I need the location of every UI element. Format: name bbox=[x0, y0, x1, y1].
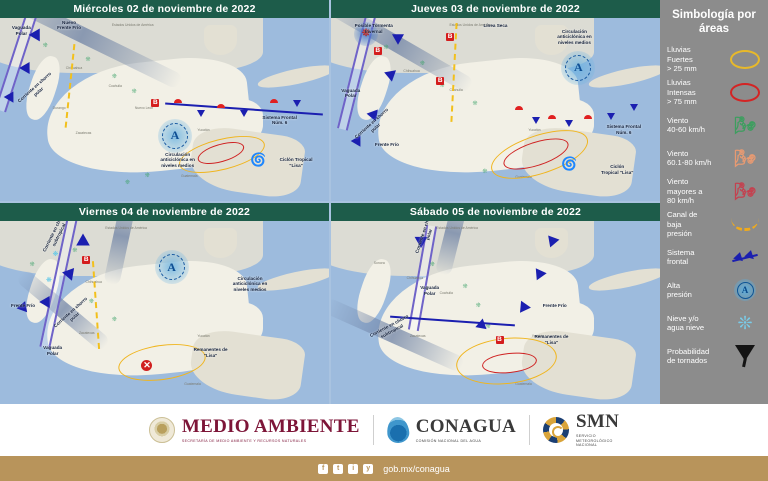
map-wednesday[interactable]: Estados Unidos de América Chihuahua Coah… bbox=[0, 18, 329, 201]
forecast-panel-saturday[interactable]: Sábado 05 de noviembre de 2022 Estados U… bbox=[331, 203, 660, 404]
low-pressure-marker: B bbox=[82, 256, 90, 264]
website-url[interactable]: gob.mx/conagua bbox=[383, 464, 450, 474]
warm-front-bump bbox=[217, 104, 225, 108]
legend-panel: Simbología por áreas Lluvias Fuertes > 2… bbox=[660, 0, 768, 404]
tornado-icon bbox=[729, 343, 761, 369]
legend-item-wind-40-60[interactable]: Viento 40-60 km/h 🌬 bbox=[660, 109, 768, 142]
high-pressure-symbol: A bbox=[155, 250, 189, 284]
wind-orange-icon: 🌬 bbox=[729, 145, 761, 171]
rain-light-ellipse-icon bbox=[729, 46, 761, 72]
low-pressure-marker: B bbox=[374, 47, 382, 55]
map-label: Frente Frío bbox=[528, 303, 581, 309]
map-label: Sistema Frontal Núm. 6 bbox=[588, 124, 660, 135]
map-label: Vaguada Polar bbox=[331, 88, 370, 99]
instagram-icon[interactable]: i bbox=[348, 464, 358, 474]
map-saturday[interactable]: Estados Unidos de América Sonora Chihuah… bbox=[331, 221, 660, 404]
legend-label: Canal de baja presión bbox=[667, 210, 725, 238]
legend-label: Probabilidad de tornados bbox=[667, 347, 725, 366]
brand-smn: SMN SERVICIO METEOROLÓGICO NACIONAL bbox=[530, 412, 632, 448]
cold-front-triangle bbox=[197, 110, 205, 117]
brand-name: MEDIO AMBIENTE bbox=[182, 417, 360, 436]
panel-title-friday: Viernes 04 de noviembre de 2022 bbox=[0, 203, 329, 221]
brand-subtitle: COMISIÓN NACIONAL DEL AGUA bbox=[416, 439, 516, 444]
map-label: Frente Frío bbox=[0, 303, 49, 309]
snow-icon: ❊ bbox=[729, 310, 761, 336]
warm-front-bump bbox=[270, 99, 278, 103]
brand-subtitle: SERVICIO METEOROLÓGICO NACIONAL bbox=[576, 434, 619, 448]
cold-front-triangle bbox=[532, 117, 540, 124]
map-label: Circulación anticiclónica en niveles med… bbox=[141, 152, 213, 169]
mexico-eagle-icon bbox=[149, 417, 175, 443]
warm-front-bump bbox=[584, 115, 592, 119]
legend-title: Simbología por áreas bbox=[660, 0, 768, 43]
high-pressure-ring bbox=[565, 55, 591, 81]
legend-item-low-pressure-channel[interactable]: Canal de baja presión bbox=[660, 208, 768, 241]
map-label: Vaguada Polar bbox=[407, 285, 453, 296]
legend-label: Sistema frontal bbox=[667, 248, 725, 267]
legend-item-high-pressure[interactable]: Alta presión A bbox=[660, 274, 768, 307]
cold-front-triangle bbox=[630, 104, 638, 111]
low-pressure-channel-icon bbox=[729, 211, 761, 237]
tropical-cyclone-symbol: 🌀 bbox=[561, 157, 577, 170]
twitter-icon[interactable]: t bbox=[333, 464, 343, 474]
high-pressure-icon: A bbox=[729, 277, 761, 303]
map-label: Nuevo Frente Frío bbox=[46, 20, 92, 31]
forecast-panel-grid: Miércoles 02 de noviembre de 2022 Estado… bbox=[0, 0, 660, 404]
wind-red-icon: 🌬 bbox=[729, 178, 761, 204]
brand-subtitle: SECRETARÍA DE MEDIO AMBIENTE Y RECURSOS … bbox=[182, 439, 360, 444]
map-label: Remanentes de "Lisa" bbox=[515, 334, 587, 345]
panel-title-thursday: Jueves 03 de noviembre de 2022 bbox=[331, 0, 660, 18]
brand-name: CONAGUA bbox=[416, 417, 516, 436]
legend-item-wind-80plus[interactable]: Viento mayores a 80 km/h 🌬 bbox=[660, 175, 768, 208]
panel-title-saturday: Sábado 05 de noviembre de 2022 bbox=[331, 203, 660, 221]
map-label: Vaguada Polar bbox=[3, 25, 39, 36]
cold-front-triangle bbox=[565, 120, 573, 127]
legend-item-rain-heavy[interactable]: Lluvias Intensas > 75 mm bbox=[660, 76, 768, 109]
youtube-icon[interactable]: y bbox=[363, 464, 373, 474]
legend-label: Alta presión bbox=[667, 281, 725, 300]
social-bar: f t i y gob.mx/conagua bbox=[0, 456, 768, 481]
conagua-drop-icon bbox=[385, 416, 410, 444]
legend-label: Lluvias Fuertes > 25 mm bbox=[667, 45, 725, 73]
smn-spiral-icon bbox=[543, 417, 569, 443]
warm-front-bump bbox=[548, 115, 556, 119]
cold-front-triangle bbox=[76, 233, 90, 245]
map-label: Remanentes de "Lisa" bbox=[174, 347, 246, 358]
brand-medio-ambiente: MEDIO AMBIENTE SECRETARÍA DE MEDIO AMBIE… bbox=[136, 417, 373, 444]
forecast-panel-wednesday[interactable]: Miércoles 02 de noviembre de 2022 Estado… bbox=[0, 0, 329, 201]
low-pressure-marker: B bbox=[446, 33, 454, 41]
forecast-panel-thursday[interactable]: Jueves 03 de noviembre de 2022 Estados U… bbox=[331, 0, 660, 201]
low-pressure-marker: B bbox=[151, 99, 159, 107]
low-pressure-marker: B bbox=[496, 336, 504, 344]
warm-front-bump bbox=[515, 106, 523, 110]
cold-front-triangle bbox=[384, 70, 398, 82]
high-pressure-symbol: A bbox=[158, 119, 192, 153]
facebook-icon[interactable]: f bbox=[318, 464, 328, 474]
high-pressure-ring bbox=[162, 123, 188, 149]
map-label: Posible Tormenta Invernal bbox=[338, 23, 410, 34]
legend-item-snow[interactable]: Nieve y/o agua nieve ❊ bbox=[660, 307, 768, 340]
map-label: Sistema Frontal Núm. 6 bbox=[243, 115, 315, 126]
map-label: Ciclón Tropical "Lisa" bbox=[263, 157, 329, 168]
weather-forecast-infographic: Miércoles 02 de noviembre de 2022 Estado… bbox=[0, 0, 768, 481]
map-friday[interactable]: Estados Unidos de América Chihuahua Zaca… bbox=[0, 221, 329, 404]
legend-item-rain-light[interactable]: Lluvias Fuertes > 25 mm bbox=[660, 43, 768, 76]
legend-label: Viento 60.1-80 km/h bbox=[667, 149, 725, 168]
cold-front-triangle bbox=[607, 113, 615, 120]
cold-front-triangle bbox=[392, 35, 404, 46]
florida-landmass bbox=[204, 228, 237, 257]
legend-label: Viento 40-60 km/h bbox=[667, 116, 725, 135]
map-label: Línea Seca bbox=[469, 23, 522, 29]
map-label: Circulación anticiclónica en niveles med… bbox=[211, 276, 290, 293]
panel-title-wednesday: Miércoles 02 de noviembre de 2022 bbox=[0, 0, 329, 18]
high-pressure-symbol: A bbox=[561, 51, 595, 85]
cold-front-triangle bbox=[293, 100, 301, 107]
cold-front-icon bbox=[729, 244, 761, 270]
legend-item-tornado[interactable]: Probabilidad de tornados bbox=[660, 340, 768, 373]
map-label: Vaguada Polar bbox=[30, 345, 76, 356]
legend-label: Viento mayores a 80 km/h bbox=[667, 177, 725, 205]
legend-label: Lluvias Intensas > 75 mm bbox=[667, 78, 725, 106]
brand-conagua: CONAGUA COMISIÓN NACIONAL DEL AGUA bbox=[374, 417, 529, 444]
legend-item-frontal-system[interactable]: Sistema frontal bbox=[660, 241, 768, 274]
rain-heavy-ellipse-icon bbox=[729, 79, 761, 105]
high-pressure-ring bbox=[159, 254, 185, 280]
footer-logos: MEDIO AMBIENTE SECRETARÍA DE MEDIO AMBIE… bbox=[0, 404, 768, 456]
map-label: Frente Frío bbox=[361, 142, 414, 148]
wind-green-icon: 🌬 bbox=[729, 112, 761, 138]
legend-item-wind-60-80[interactable]: Viento 60.1-80 km/h 🌬 bbox=[660, 142, 768, 175]
low-pressure-marker: B bbox=[436, 77, 444, 85]
forecast-panel-friday[interactable]: Viernes 04 de noviembre de 2022 Estados … bbox=[0, 203, 329, 404]
map-label: Ciclón Tropical "Lisa" bbox=[581, 164, 653, 175]
brand-name: SMN bbox=[576, 412, 619, 431]
legend-label: Nieve y/o agua nieve bbox=[667, 314, 725, 333]
map-thursday[interactable]: Estados Unidos de América Chihuahua Coah… bbox=[331, 18, 660, 201]
place-label: Estados Unidos de América bbox=[112, 23, 154, 27]
map-label: Circulación anticiclónica en niveles med… bbox=[535, 29, 614, 46]
florida-landmass bbox=[204, 25, 237, 54]
